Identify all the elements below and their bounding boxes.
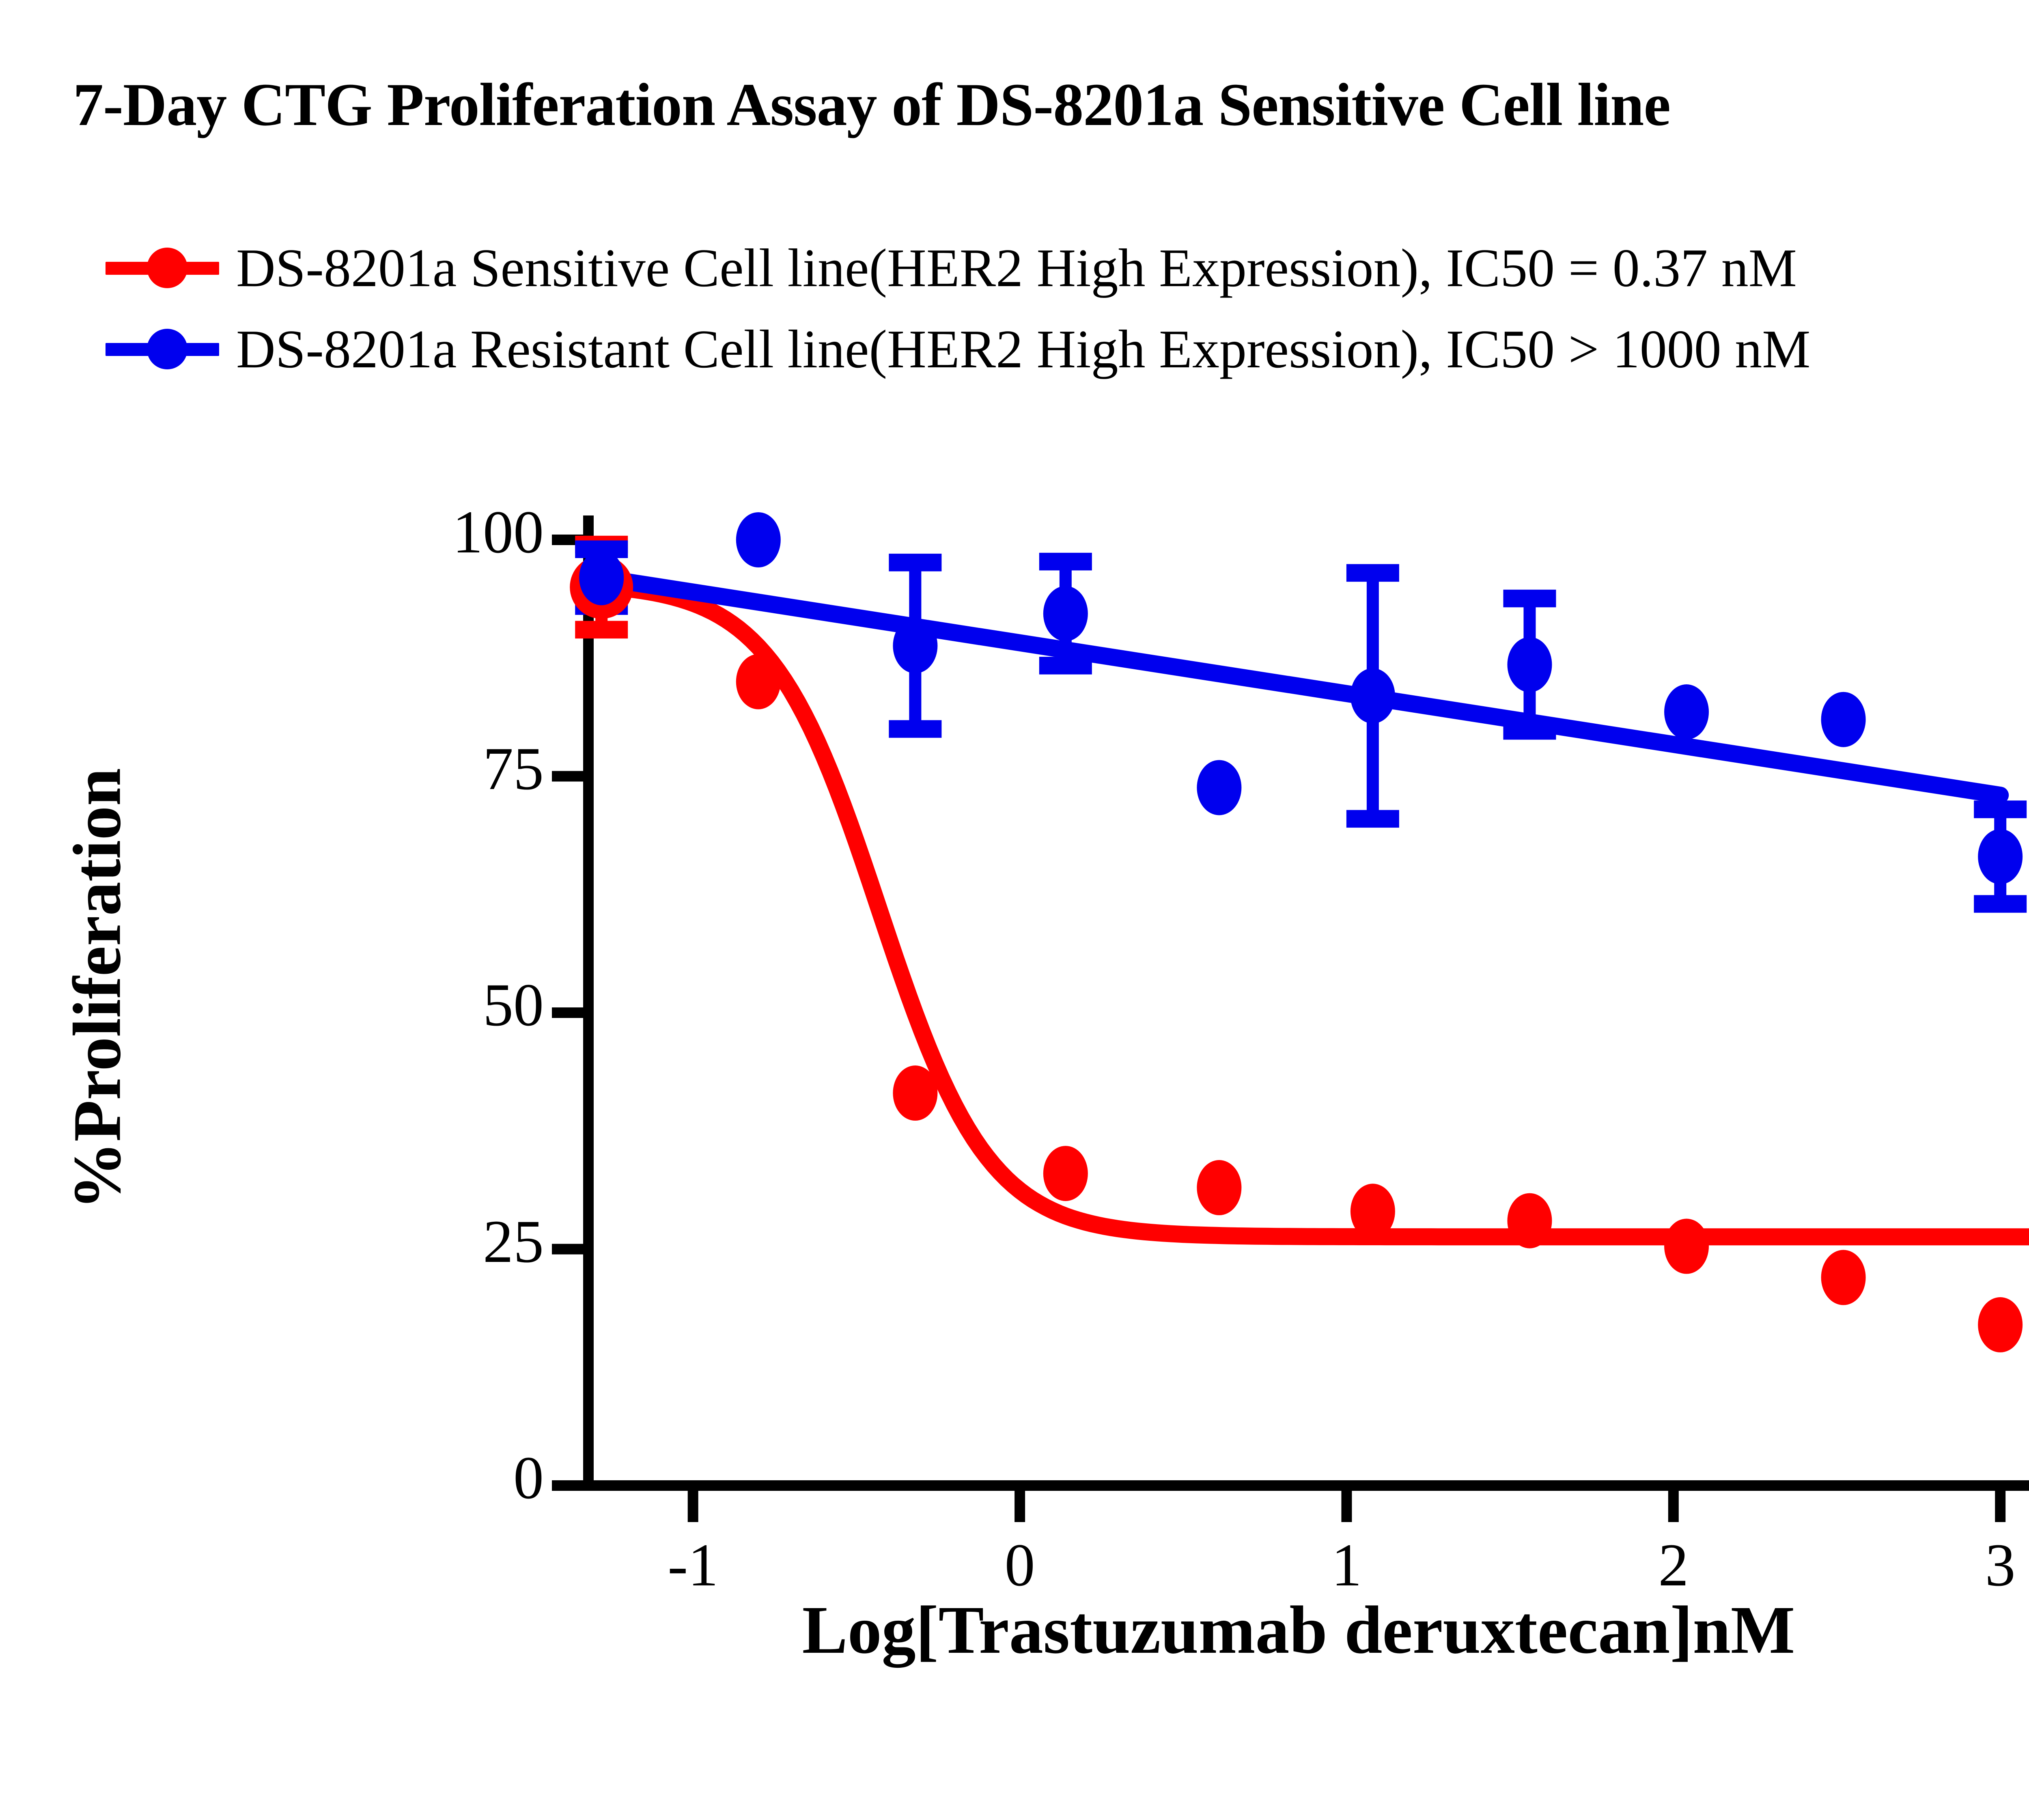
resistant-data-point xyxy=(893,618,937,673)
sensitive-data-point xyxy=(1351,1184,1395,1239)
legend-marker-sensitive xyxy=(101,244,223,292)
legend-marker-resistant xyxy=(101,325,223,373)
resistant-fit-line xyxy=(588,576,2000,796)
plot-area: %Proliferation Log[Trastuzumab deruxteca… xyxy=(0,479,2029,1818)
sensitive-data-point xyxy=(736,654,781,709)
resistant-data-point xyxy=(1978,829,2023,884)
resistant-data-point xyxy=(1664,684,1709,740)
y-tick-label: 75 xyxy=(373,734,544,804)
resistant-data-point xyxy=(1351,668,1395,723)
resistant-data-point xyxy=(1197,760,1241,815)
x-axis-label: Log[Trastuzumab deruxtecan]nM xyxy=(406,1591,2029,1669)
resistant-data-point xyxy=(736,512,781,567)
legend: DS-8201a Sensitive Cell line(HER2 High E… xyxy=(101,227,2029,390)
sensitive-data-point xyxy=(1507,1193,1552,1249)
y-tick-label: 100 xyxy=(373,497,544,567)
resistant-data-point xyxy=(1507,637,1552,692)
sensitive-data-point xyxy=(1043,1146,1088,1201)
page-title: 7-Day CTG Proliferation Assay of DS-8201… xyxy=(73,73,2029,137)
x-tick-label: -1 xyxy=(640,1530,746,1600)
resistant-data-point xyxy=(579,550,624,605)
resistant-data-point xyxy=(1043,586,1088,641)
sensitive-data-point xyxy=(1821,1250,1866,1305)
legend-label-resistant: DS-8201a Resistant Cell line(HER2 High E… xyxy=(236,322,1810,376)
y-tick-label: 50 xyxy=(373,970,544,1040)
sensitive-data-point xyxy=(1978,1297,2023,1352)
legend-label-sensitive: DS-8201a Sensitive Cell line(HER2 High E… xyxy=(236,241,1797,295)
y-axis-label: %Proliferation xyxy=(58,664,137,1314)
x-tick-label: 3 xyxy=(1947,1530,2029,1600)
sensitive-data-point xyxy=(1197,1160,1241,1215)
sensitive-data-point xyxy=(893,1065,937,1121)
legend-item-sensitive: DS-8201a Sensitive Cell line(HER2 High E… xyxy=(101,227,2029,308)
y-tick-label: 0 xyxy=(373,1443,544,1513)
sensitive-data-point xyxy=(1664,1219,1709,1274)
figure-root: 7-Day CTG Proliferation Assay of DS-8201… xyxy=(0,0,2029,1820)
x-tick-label: 1 xyxy=(1294,1530,1399,1600)
legend-item-resistant: DS-8201a Resistant Cell line(HER2 High E… xyxy=(101,308,2029,390)
resistant-data-point xyxy=(1821,692,1866,747)
x-tick-label: 2 xyxy=(1621,1530,1726,1600)
x-tick-label: 0 xyxy=(967,1530,1073,1600)
y-tick-label: 25 xyxy=(373,1207,544,1277)
